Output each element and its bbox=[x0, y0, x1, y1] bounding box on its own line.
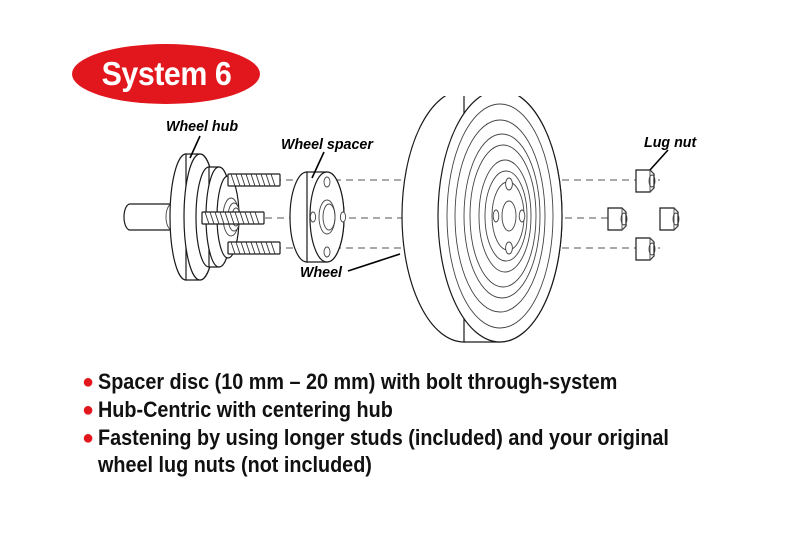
wheel-stud-bottom bbox=[228, 242, 280, 254]
lug-nut-bottom bbox=[636, 238, 655, 260]
wheel bbox=[402, 96, 562, 342]
assembly-diagram: .ln{fill:none;stroke:#1a1a1a;stroke-widt… bbox=[0, 96, 800, 366]
wheel-spacer bbox=[290, 172, 346, 262]
system-badge-label: System 6 bbox=[101, 55, 231, 93]
label-wheel-hub: Wheel hub bbox=[166, 118, 238, 135]
leader-lug-nut bbox=[650, 150, 668, 170]
list-item: ● Spacer disc (10 mm – 20 mm) with bolt … bbox=[82, 368, 762, 395]
wheel-stud-middle bbox=[202, 212, 264, 224]
lug-nut-middle-inner bbox=[608, 208, 627, 230]
page-root: System 6 .ln{fill:none;stroke:#1a1a1a;st… bbox=[0, 0, 800, 533]
bullet-dot-icon: ● bbox=[82, 425, 98, 451]
wheel-stud-top bbox=[228, 174, 280, 186]
list-item-label: Fastening by using longer studs (include… bbox=[98, 424, 669, 478]
list-item: ● Hub-Centric with centering hub bbox=[82, 396, 762, 423]
label-wheel: Wheel bbox=[300, 264, 342, 281]
lug-nut-top bbox=[636, 170, 655, 192]
lug-nut-middle-outer bbox=[660, 208, 679, 230]
label-lug-nut: Lug nut bbox=[644, 134, 696, 151]
list-item: ● Fastening by using longer studs (inclu… bbox=[82, 424, 762, 478]
axle-shaft bbox=[124, 204, 172, 230]
list-item-label: Spacer disc (10 mm – 20 mm) with bolt th… bbox=[98, 368, 617, 395]
bullet-dot-icon: ● bbox=[82, 369, 98, 395]
system-badge: System 6 bbox=[72, 44, 260, 104]
list-item-label: Hub-Centric with centering hub bbox=[98, 396, 393, 423]
bullet-dot-icon: ● bbox=[82, 397, 98, 423]
feature-list: ● Spacer disc (10 mm – 20 mm) with bolt … bbox=[82, 368, 762, 479]
leader-wheel bbox=[348, 254, 400, 271]
lug-nuts bbox=[608, 170, 679, 260]
label-wheel-spacer: Wheel spacer bbox=[281, 136, 373, 153]
